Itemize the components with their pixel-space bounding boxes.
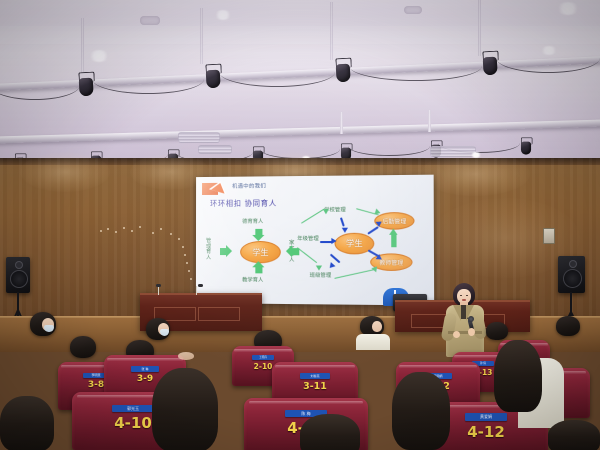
- stage-light: [481, 51, 498, 76]
- seat-nametag: 张 琳: [131, 366, 159, 372]
- right-diagram-class-label: 班级管理: [310, 272, 332, 279]
- left-diagram-top-label: 德育育人: [242, 218, 263, 225]
- blue-arrow-head: [342, 228, 348, 233]
- seat-top-trim: [107, 358, 182, 361]
- arrow-right-left-head: [226, 245, 232, 257]
- lighting-truss-lower: [0, 119, 600, 143]
- foreground-audience-hair: [494, 340, 542, 412]
- green-link-line: [301, 209, 324, 224]
- arrow-left-right-head: [286, 245, 292, 257]
- foreground-audience-hair: [548, 420, 600, 450]
- arrow-up-bottom-head: [252, 261, 264, 267]
- truss-drop-rod: [330, 2, 333, 60]
- wall-light-spill: [20, 152, 110, 192]
- audience-hand: [178, 352, 194, 360]
- green-arrow-head: [316, 265, 322, 270]
- truss-drop-rod: [428, 110, 431, 132]
- foreground-audience-hair: [392, 372, 450, 450]
- blue-arrow-head: [331, 238, 336, 244]
- stage-light: [520, 137, 532, 154]
- green-link-line: [297, 247, 317, 263]
- blue-arrow-head: [327, 262, 335, 270]
- ceiling-vent: [140, 16, 160, 25]
- wall-light-spill: [420, 152, 530, 196]
- microphone-head: [198, 284, 203, 287]
- right-loudspeaker: [558, 256, 585, 293]
- truss-drop-rod: [478, 0, 481, 56]
- left-loudspeaker: [6, 257, 30, 293]
- left-diagram-left-label: 管理育人: [206, 239, 212, 261]
- seat-nametag: 刘春燕: [300, 373, 329, 379]
- stage-light: [204, 64, 221, 89]
- foreground-audience-hair: [0, 396, 54, 450]
- foreground-audience-hair: [300, 414, 360, 450]
- left-diagram-bottom-label: 教学育人: [242, 276, 263, 283]
- microphone-stand: [158, 286, 159, 295]
- blue-arrow-school-to-student: [340, 217, 345, 227]
- stage-light: [77, 72, 94, 97]
- microphone-stand: [196, 286, 197, 295]
- power-cable: [348, 146, 430, 156]
- ceiling-downlight: [556, 2, 580, 15]
- ceiling-beam-top: [0, 0, 600, 26]
- seat-top-trim: [399, 365, 476, 368]
- stage-light: [334, 58, 351, 83]
- seat-top-trim: [234, 349, 291, 352]
- seat-code: 3-11: [272, 381, 358, 392]
- blue-arrow-student-to-logistics: [367, 226, 379, 235]
- seat-top-trim: [249, 401, 363, 404]
- power-cable: [219, 72, 335, 87]
- ceiling-vent: [404, 6, 422, 14]
- truss-drop-rod: [340, 112, 343, 134]
- seat-nametag: 郭光玉: [112, 405, 153, 413]
- left-diagram-center-node: 学生: [240, 241, 281, 263]
- power-cable: [0, 85, 80, 100]
- ceiling-downlight: [214, 10, 232, 20]
- foreground-audience-hair: [152, 368, 218, 450]
- arrow-down-top-head: [252, 235, 264, 241]
- arrow-up-bottom: [255, 266, 262, 273]
- right-diagram-grade-label: 年级管理: [297, 235, 318, 242]
- ceiling-ac-grill: [178, 132, 220, 143]
- seat-nametag: 黄爱娟: [465, 413, 507, 421]
- power-cable: [92, 79, 204, 94]
- ceiling-downlight: [540, 46, 558, 55]
- seat-top-trim: [275, 365, 354, 368]
- presenter-mouth: [462, 299, 466, 301]
- truss-drop-rod: [81, 18, 84, 72]
- slide-logo-text: 机遇中的我们: [232, 182, 266, 189]
- green-arrow-teacher-to-logistics: [391, 235, 396, 247]
- power-cable: [496, 58, 600, 73]
- seat-nametag: 王晓丹: [252, 355, 273, 360]
- ceiling-panel: [0, 26, 600, 44]
- ceiling-ac-grill: [198, 145, 232, 154]
- ceiling-downlight: [88, 50, 110, 62]
- wall-control-panel[interactable]: [543, 228, 555, 244]
- power-cable: [349, 66, 482, 81]
- green-arrow-head: [389, 229, 398, 235]
- lecture-hall-photo: 机遇中的我们 环环相扣 协同育人 学生 德育育人 家庭育人 教学育人 管理育人 …: [0, 0, 600, 450]
- microphone-head: [156, 284, 161, 287]
- slide-subtitle: 环环相扣 协同育人: [210, 199, 277, 209]
- truss-drop-rod: [200, 8, 203, 64]
- slide-logo-icon: [202, 181, 228, 195]
- ceiling: [0, 0, 600, 172]
- green-link-line: [334, 269, 375, 279]
- projection-screen: 机遇中的我们 环环相扣 协同育人 学生 德育育人 家庭育人 教学育人 管理育人 …: [196, 175, 434, 306]
